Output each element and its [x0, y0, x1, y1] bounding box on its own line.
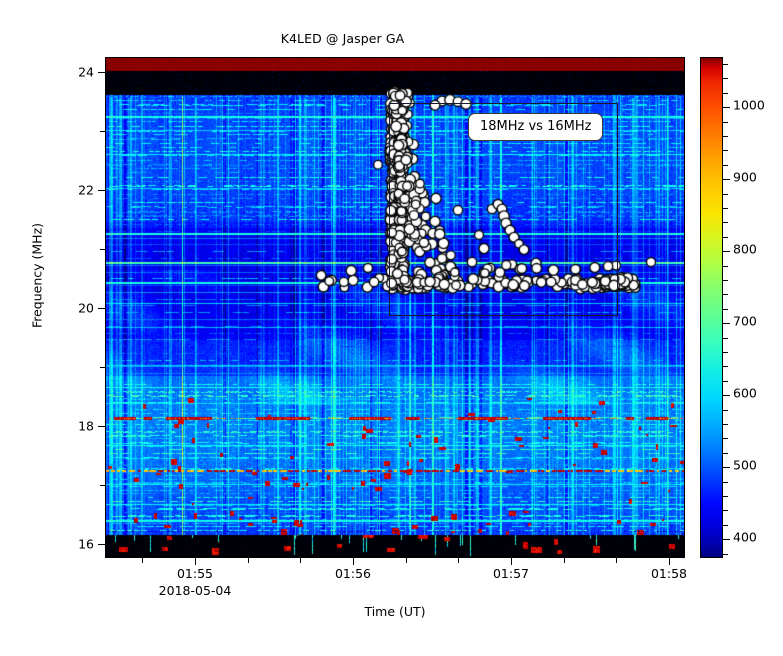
colorbar-tick-mark-minor — [723, 93, 728, 94]
y-tick-label: 22 — [34, 183, 94, 198]
colorbar-tick-mark-minor — [723, 381, 728, 382]
x-tick-mark — [669, 558, 670, 565]
colorbar-tick-mark — [723, 323, 730, 324]
y-axis-label: Frequency (MHz) — [30, 76, 45, 476]
colorbar-tick-label: 600 — [733, 386, 757, 401]
x-tick-mark — [195, 558, 196, 565]
colorbar-tick-mark-minor — [723, 309, 728, 310]
y-tick-label: 24 — [34, 65, 94, 80]
x-tick-mark-minor — [564, 558, 565, 563]
y-tick-mark-minor — [100, 131, 105, 132]
colorbar-tick-label: 500 — [733, 458, 757, 473]
y-tick-label: 18 — [34, 419, 94, 434]
colorbar-tick-mark-minor — [723, 294, 728, 295]
colorbar-tick-mark-minor — [723, 496, 728, 497]
figure-root: K4LED @ Jasper GA 18MHz vs 16MHz Frequen… — [0, 0, 783, 656]
colorbar-tick-mark-minor — [723, 424, 728, 425]
colorbar-tick-label: 1000 — [733, 98, 765, 113]
y-tick-mark — [98, 190, 105, 191]
colorbar-tick-mark-minor — [723, 222, 728, 223]
colorbar-tick-mark-minor — [723, 194, 728, 195]
colorbar-tick-label: 700 — [733, 314, 757, 329]
colorbar-tick-mark — [723, 467, 730, 468]
y-tick-mark — [98, 72, 105, 73]
colorbar-tick-mark-minor — [723, 525, 728, 526]
colorbar-tick-mark-minor — [723, 366, 728, 367]
colorbar-tick-mark-minor — [723, 352, 728, 353]
colorbar-tick-mark-minor — [723, 64, 728, 65]
page-title: K4LED @ Jasper GA — [0, 31, 685, 46]
colorbar-tick-mark — [723, 395, 730, 396]
y-tick-label: 16 — [34, 537, 94, 552]
y-tick-mark — [98, 308, 105, 309]
x-tick-label: 01:56 — [293, 566, 413, 581]
x-tick-mark-minor — [616, 558, 617, 563]
x-tick-mark-minor — [300, 558, 301, 563]
colorbar-tick-mark-minor — [723, 482, 728, 483]
x-tick-label: 01:55 — [135, 566, 255, 581]
colorbar-tick-mark-minor — [723, 150, 728, 151]
colorbar-tick-mark-minor — [723, 453, 728, 454]
y-tick-mark — [98, 544, 105, 545]
x-tick-mark — [511, 558, 512, 565]
colorbar-tick-label: 800 — [733, 242, 757, 257]
colorbar-tick-label: 400 — [733, 530, 757, 545]
colorbar-tick-mark — [723, 539, 730, 540]
x-tick-mark — [353, 558, 354, 565]
x-tick-label: 01:58 — [609, 566, 729, 581]
colorbar-tick-mark-minor — [723, 438, 728, 439]
colorbar-tick-mark — [723, 251, 730, 252]
x-tick-mark-minor — [406, 558, 407, 563]
y-tick-label: 20 — [34, 301, 94, 316]
colorbar — [700, 57, 723, 558]
colorbar-tick-mark — [723, 107, 730, 108]
colorbar-tick-mark-minor — [723, 208, 728, 209]
colorbar-tick-mark-minor — [723, 266, 728, 267]
x-tick-mark-minor — [142, 558, 143, 563]
colorbar-tick-mark-minor — [723, 136, 728, 137]
y-tick-mark-minor — [100, 249, 105, 250]
colorbar-tick-mark-minor — [723, 510, 728, 511]
colorbar-tick-mark-minor — [723, 338, 728, 339]
colorbar-tick-label: 900 — [733, 170, 757, 185]
y-tick-mark-minor — [100, 367, 105, 368]
y-tick-mark-minor — [100, 485, 105, 486]
colorbar-tick-mark-minor — [723, 122, 728, 123]
colorbar-tick-mark-minor — [723, 165, 728, 166]
colorbar-tick-mark-minor — [723, 554, 728, 555]
y-tick-mark — [98, 426, 105, 427]
colorbar-tick-mark-minor — [723, 410, 728, 411]
x-axis-label: Time (UT) — [105, 604, 685, 619]
x-tick-mark-minor — [458, 558, 459, 563]
colorbar-tick-mark — [723, 179, 730, 180]
x-tick-label: 01:57 — [451, 566, 571, 581]
colorbar-tick-mark-minor — [723, 237, 728, 238]
x-tick-mark-minor — [248, 558, 249, 563]
annotation-label: 18MHz vs 16MHz — [468, 113, 603, 141]
colorbar-tick-mark-minor — [723, 78, 728, 79]
x-axis-date-label: 2018-05-04 — [115, 583, 275, 598]
colorbar-tick-mark-minor — [723, 280, 728, 281]
